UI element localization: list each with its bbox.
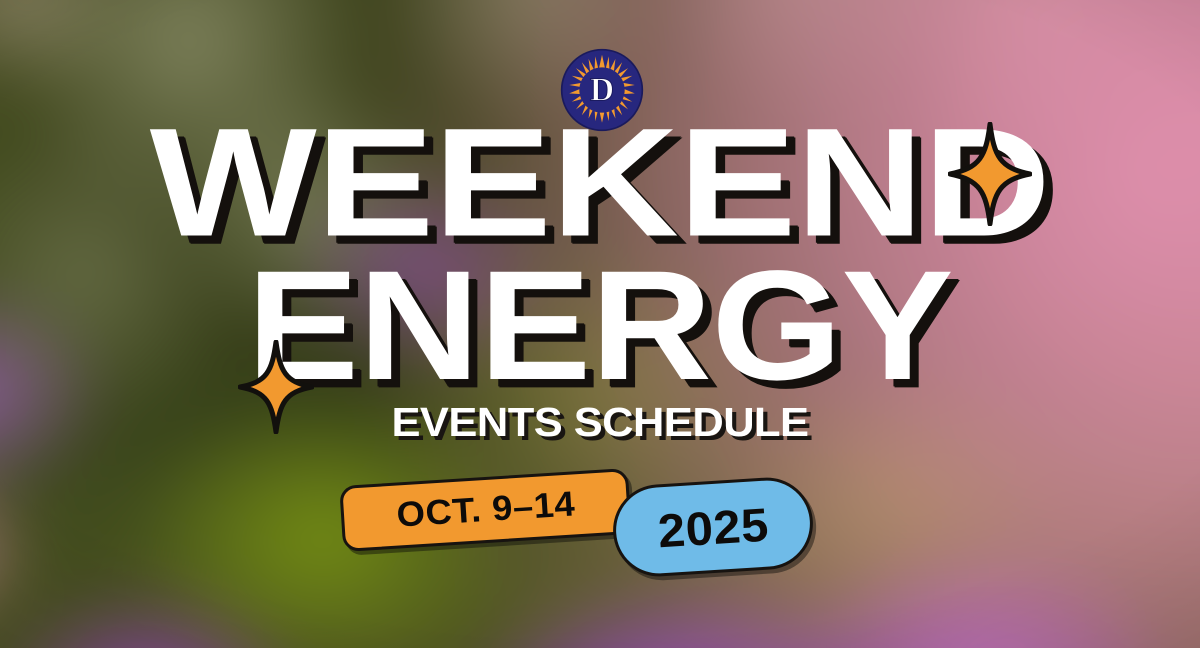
four-point-star-icon (948, 122, 1032, 226)
headline-line-2: ENERGY (0, 258, 1200, 392)
year-label: 2025 (656, 496, 770, 558)
date-range-badge: OCT. 9–14 (339, 468, 632, 552)
weekend-energy-poster: D WEEKEND ENERGY EVENTS SCHEDULE OCT. 9–… (0, 0, 1200, 648)
poster-content: D WEEKEND ENERGY EVENTS SCHEDULE OCT. 9–… (0, 0, 1200, 648)
four-point-star-icon (238, 340, 314, 434)
subtitle: EVENTS SCHEDULE (0, 399, 1200, 446)
year-badge: 2025 (610, 475, 815, 579)
date-range-label: OCT. 9–14 (395, 484, 576, 535)
